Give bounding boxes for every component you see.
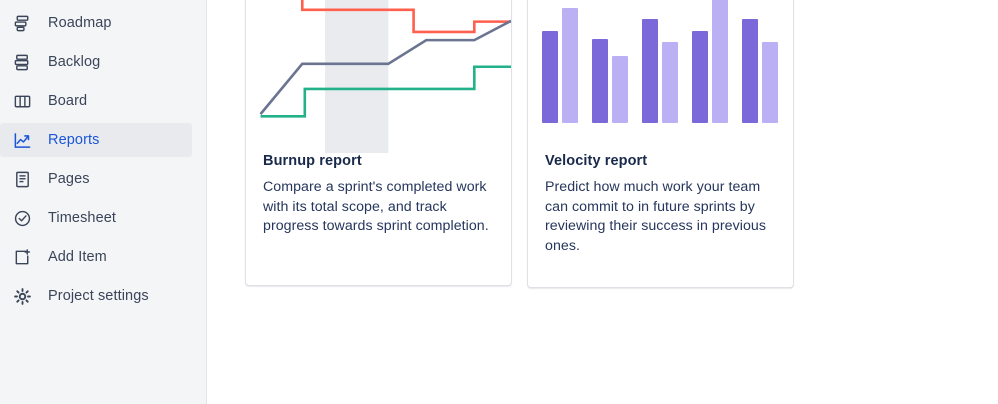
velocity-bar <box>692 31 708 123</box>
burnup-card-description: Compare a sprint's completed work with i… <box>263 178 494 237</box>
burnup-line-scope <box>267 0 511 32</box>
board-columns-icon <box>10 89 34 113</box>
sidebar-item-label: Timesheet <box>48 210 116 226</box>
sidebar-item-backlog[interactable]: Backlog <box>0 45 192 79</box>
velocity-chart-thumbnail <box>528 0 793 153</box>
main-content: Burnup report Compare a sprint's complet… <box>207 0 998 404</box>
burnup-card-title: Burnup report <box>263 153 494 169</box>
backlog-icon <box>10 50 34 74</box>
velocity-bar <box>712 0 728 123</box>
sprint-highlight-band <box>325 0 388 153</box>
velocity-bar <box>542 31 558 123</box>
velocity-card-description: Predict how much work your team can comm… <box>545 178 776 256</box>
sidebar-item-reports[interactable]: Reports <box>0 123 192 157</box>
pages-document-icon <box>10 167 34 191</box>
velocity-bar <box>662 42 678 123</box>
sidebar-item-label: Roadmap <box>48 15 112 31</box>
burnup-card-body: Burnup report Compare a sprint's complet… <box>246 153 511 237</box>
report-card-velocity[interactable]: Velocity report Predict how much work yo… <box>527 0 794 288</box>
sidebar-item-project-settings[interactable]: Project settings <box>0 279 192 313</box>
velocity-bar <box>562 8 578 123</box>
gear-settings-icon <box>10 284 34 308</box>
timesheet-check-icon <box>10 206 34 230</box>
velocity-bars-container <box>528 0 793 153</box>
sidebar: Roadmap Backlog Board <box>0 0 207 404</box>
sidebar-item-add-item[interactable]: Add Item <box>0 240 192 274</box>
sidebar-item-board[interactable]: Board <box>0 84 192 118</box>
sidebar-item-timesheet[interactable]: Timesheet <box>0 201 192 235</box>
velocity-bar <box>742 19 758 123</box>
sidebar-item-label: Add Item <box>48 249 107 265</box>
velocity-bar <box>612 56 628 123</box>
sidebar-item-label: Project settings <box>48 288 149 304</box>
sidebar-item-label: Reports <box>48 132 99 148</box>
sidebar-item-label: Pages <box>48 171 90 187</box>
sidebar-item-label: Board <box>48 93 87 109</box>
velocity-card-body: Velocity report Predict how much work yo… <box>528 153 793 256</box>
roadmap-icon <box>10 11 34 35</box>
report-card-burnup[interactable]: Burnup report Compare a sprint's complet… <box>245 0 512 286</box>
add-item-plus-icon <box>10 245 34 269</box>
velocity-bar <box>592 39 608 123</box>
burnup-chart-svg <box>246 0 511 153</box>
reports-trend-icon <box>10 128 34 152</box>
burnup-chart-thumbnail <box>246 0 511 153</box>
sidebar-item-roadmap[interactable]: Roadmap <box>0 6 192 40</box>
velocity-card-title: Velocity report <box>545 153 776 169</box>
velocity-bar <box>762 42 778 123</box>
velocity-bar <box>642 19 658 123</box>
sidebar-item-pages[interactable]: Pages <box>0 162 192 196</box>
sidebar-item-label: Backlog <box>48 54 100 70</box>
